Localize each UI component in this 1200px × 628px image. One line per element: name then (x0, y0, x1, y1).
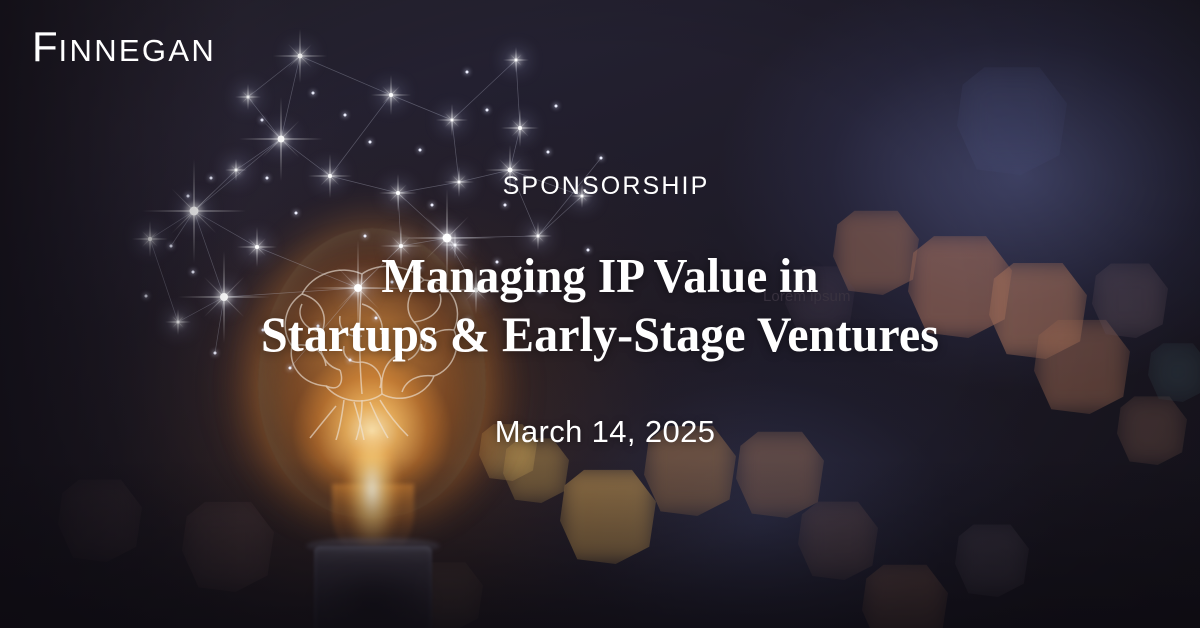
logo-wordmark: INNEGAN (59, 33, 217, 68)
page-title: Managing IP Value in Startups & Early-St… (24, 248, 1176, 363)
event-date-text: March 14, 2025 (485, 414, 716, 449)
eyebrow-label: SPONSORSHIP (0, 174, 1200, 199)
title-line-1: Managing IP Value in (24, 248, 1176, 305)
logo-initial: F (32, 23, 59, 70)
placeholder-watermark: Lorem ipsum (763, 289, 851, 304)
finnegan-logo[interactable]: FINNEGAN (32, 26, 216, 68)
title-line-2: Startups & Early-Stage Ventures (24, 305, 1176, 363)
sponsorship-banner: FINNEGAN SPONSORSHIP Managing IP Value i… (0, 0, 1200, 628)
eyebrow-text: SPONSORSHIP (491, 172, 710, 200)
content-layer: FINNEGAN SPONSORSHIP Managing IP Value i… (0, 0, 1200, 628)
event-date: March 14, 2025 (0, 416, 1200, 447)
